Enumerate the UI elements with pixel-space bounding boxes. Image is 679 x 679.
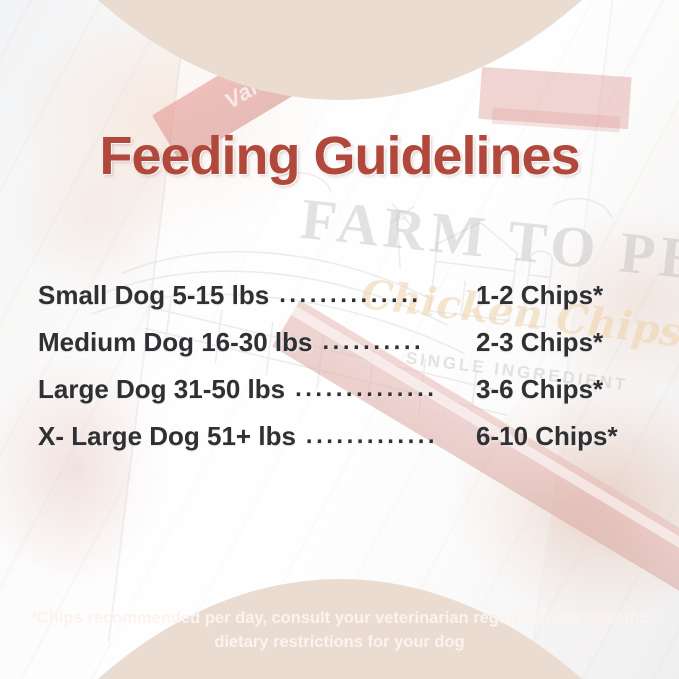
table-row: X- Large Dog 51+ lbs .................. … [38, 421, 648, 468]
row-leader: .................. [306, 422, 436, 450]
row-value: 2-3 Chips* [476, 327, 648, 358]
row-label: Large Dog 31-50 lbs [38, 374, 285, 405]
table-row: Medium Dog 16-30 lbs .............. 2-3 … [38, 327, 648, 374]
card-content: Feeding Guidelines Small Dog 5-15 lbs ..… [0, 0, 679, 679]
row-leader: ................... [295, 375, 433, 403]
row-label: Small Dog 5-15 lbs [38, 280, 269, 311]
row-value: 3-6 Chips* [476, 374, 648, 405]
feeding-guidelines-table: Small Dog 5-15 lbs .................... … [38, 280, 648, 468]
row-value: 1-2 Chips* [476, 280, 648, 311]
row-leader: .................... [279, 281, 421, 309]
row-value: 6-10 Chips* [476, 421, 648, 452]
row-leader: .............. [323, 328, 423, 356]
footer-disclaimer: *Chips recommended per day, consult your… [0, 607, 679, 655]
table-row: Large Dog 31-50 lbs ................... … [38, 374, 648, 421]
page-title: Feeding Guidelines [0, 125, 679, 187]
row-label: Medium Dog 16-30 lbs [38, 327, 313, 358]
feeding-guidelines-card: NEW Value Bag [0, 0, 679, 679]
table-row: Small Dog 5-15 lbs .................... … [38, 280, 648, 327]
row-label: X- Large Dog 51+ lbs [38, 421, 296, 452]
